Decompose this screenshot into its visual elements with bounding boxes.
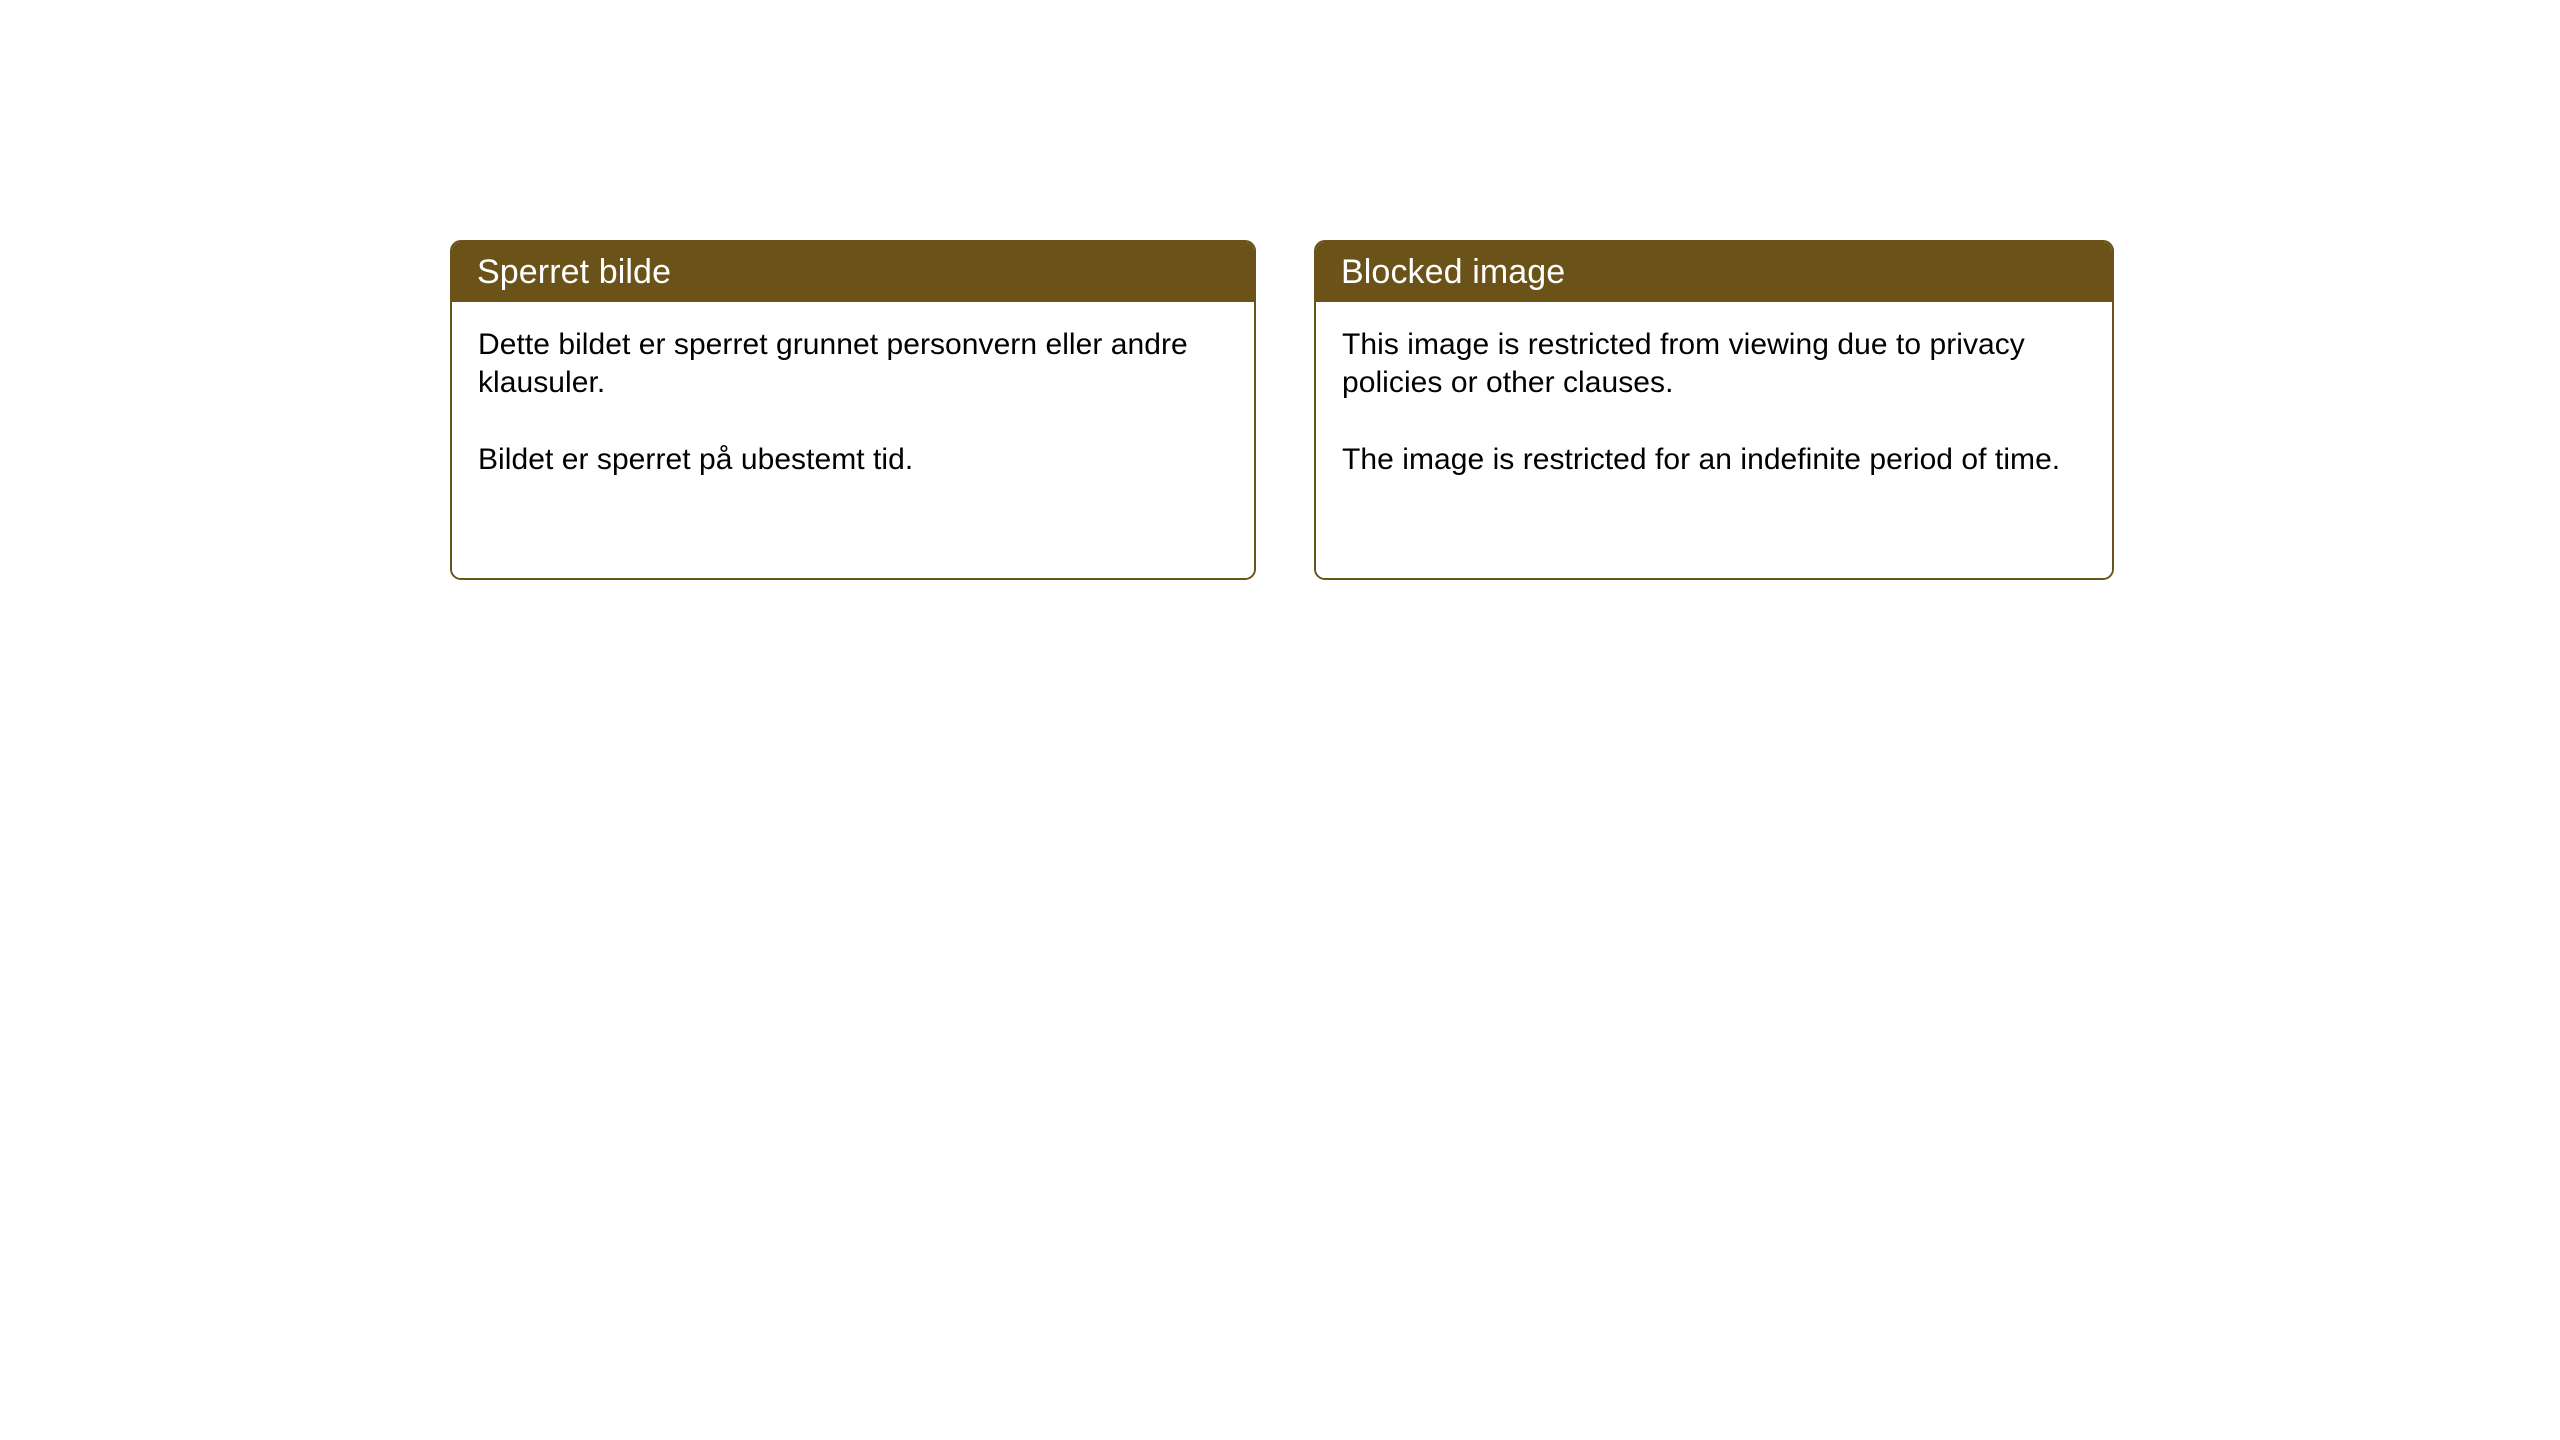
- card-header-norwegian: Sperret bilde: [452, 242, 1254, 302]
- card-body-norwegian: Dette bildet er sperret grunnet personve…: [452, 302, 1254, 578]
- card-paragraph-reason-english: This image is restricted from viewing du…: [1342, 326, 2086, 403]
- card-header-english: Blocked image: [1316, 242, 2112, 302]
- card-body-english: This image is restricted from viewing du…: [1316, 302, 2112, 578]
- blocked-image-notice-card-norwegian: Sperret bilde Dette bildet er sperret gr…: [450, 240, 1256, 580]
- card-paragraph-duration-norwegian: Bildet er sperret på ubestemt tid.: [478, 441, 1228, 479]
- card-title-norwegian: Sperret bilde: [477, 255, 671, 289]
- page-canvas: Sperret bilde Dette bildet er sperret gr…: [0, 0, 2560, 1440]
- card-paragraph-reason-norwegian: Dette bildet er sperret grunnet personve…: [478, 326, 1228, 403]
- card-title-english: Blocked image: [1341, 255, 1565, 289]
- blocked-image-notice-card-english: Blocked image This image is restricted f…: [1314, 240, 2114, 580]
- card-paragraph-duration-english: The image is restricted for an indefinit…: [1342, 441, 2086, 479]
